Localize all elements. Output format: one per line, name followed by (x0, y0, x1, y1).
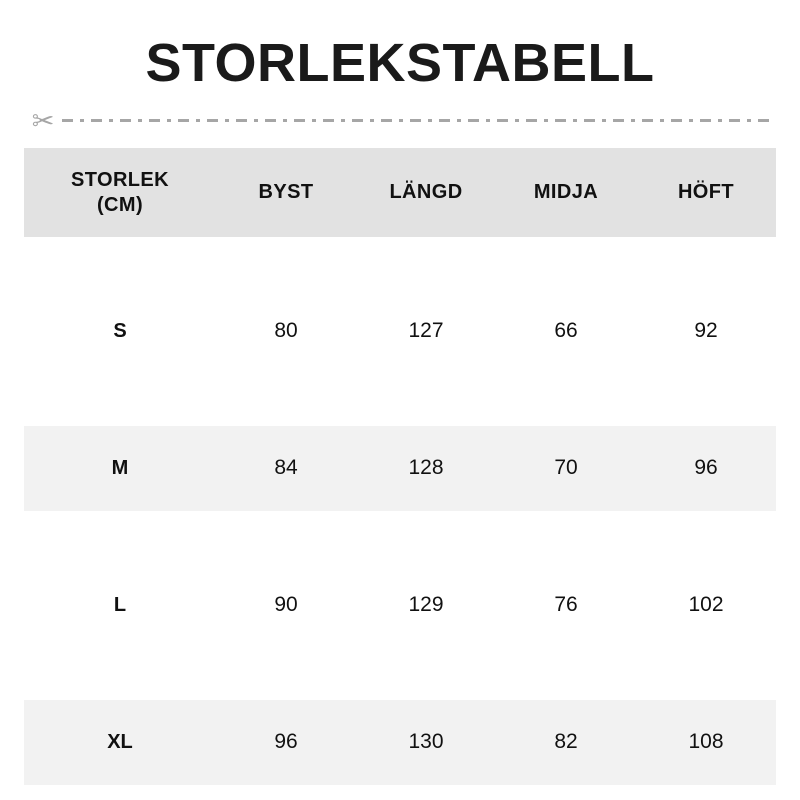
dashed-cut-rule (62, 119, 776, 122)
cell-midja: 76 (496, 592, 636, 618)
cell-langd: 128 (356, 455, 496, 481)
cell-byst: 96 (216, 729, 356, 755)
column-header-hoft: HÖFT (636, 180, 776, 205)
cell-size: S (24, 319, 216, 344)
table-header-row: STORLEK (CM) BYST LÄNGD MIDJA HÖFT (24, 148, 776, 237)
cell-langd: 127 (356, 318, 496, 344)
cell-byst: 80 (216, 318, 356, 344)
column-header-langd: LÄNGD (356, 180, 496, 205)
scissors-icon: ✂ (24, 103, 62, 139)
cell-midja: 70 (496, 455, 636, 481)
table-row: S 80 127 66 92 (24, 289, 776, 374)
column-header-byst: BYST (216, 180, 356, 205)
cell-hoft: 96 (636, 455, 776, 481)
column-header-storlek-unit: (CM) (24, 193, 216, 218)
cell-size: XL (24, 730, 216, 755)
row-gap (24, 237, 776, 289)
cell-langd: 129 (356, 592, 496, 618)
cell-midja: 66 (496, 318, 636, 344)
table-row: M 84 128 70 96 (24, 426, 776, 511)
column-header-midja: MIDJA (496, 180, 636, 205)
cell-hoft: 102 (636, 592, 776, 618)
cell-size: L (24, 593, 216, 618)
column-header-storlek: STORLEK (CM) (24, 168, 216, 218)
size-chart-page: STORLEKSTABELL ✂ STORLEK (CM) BYST LÄNGD… (0, 0, 800, 800)
table-row: L 90 129 76 102 (24, 563, 776, 648)
row-gap (24, 648, 776, 700)
cell-hoft: 92 (636, 318, 776, 344)
cell-size: M (24, 456, 216, 481)
cell-byst: 84 (216, 455, 356, 481)
column-header-storlek-label: STORLEK (71, 169, 169, 191)
table-row: XL 96 130 82 108 (24, 700, 776, 785)
cell-byst: 90 (216, 592, 356, 618)
page-title: STORLEKSTABELL (0, 33, 800, 93)
cell-hoft: 108 (636, 729, 776, 755)
row-gap (24, 374, 776, 426)
row-gap (24, 511, 776, 563)
cut-line: ✂ (24, 103, 776, 139)
size-table: STORLEK (CM) BYST LÄNGD MIDJA HÖFT S 80 … (24, 148, 776, 785)
cell-midja: 82 (496, 729, 636, 755)
cell-langd: 130 (356, 729, 496, 755)
